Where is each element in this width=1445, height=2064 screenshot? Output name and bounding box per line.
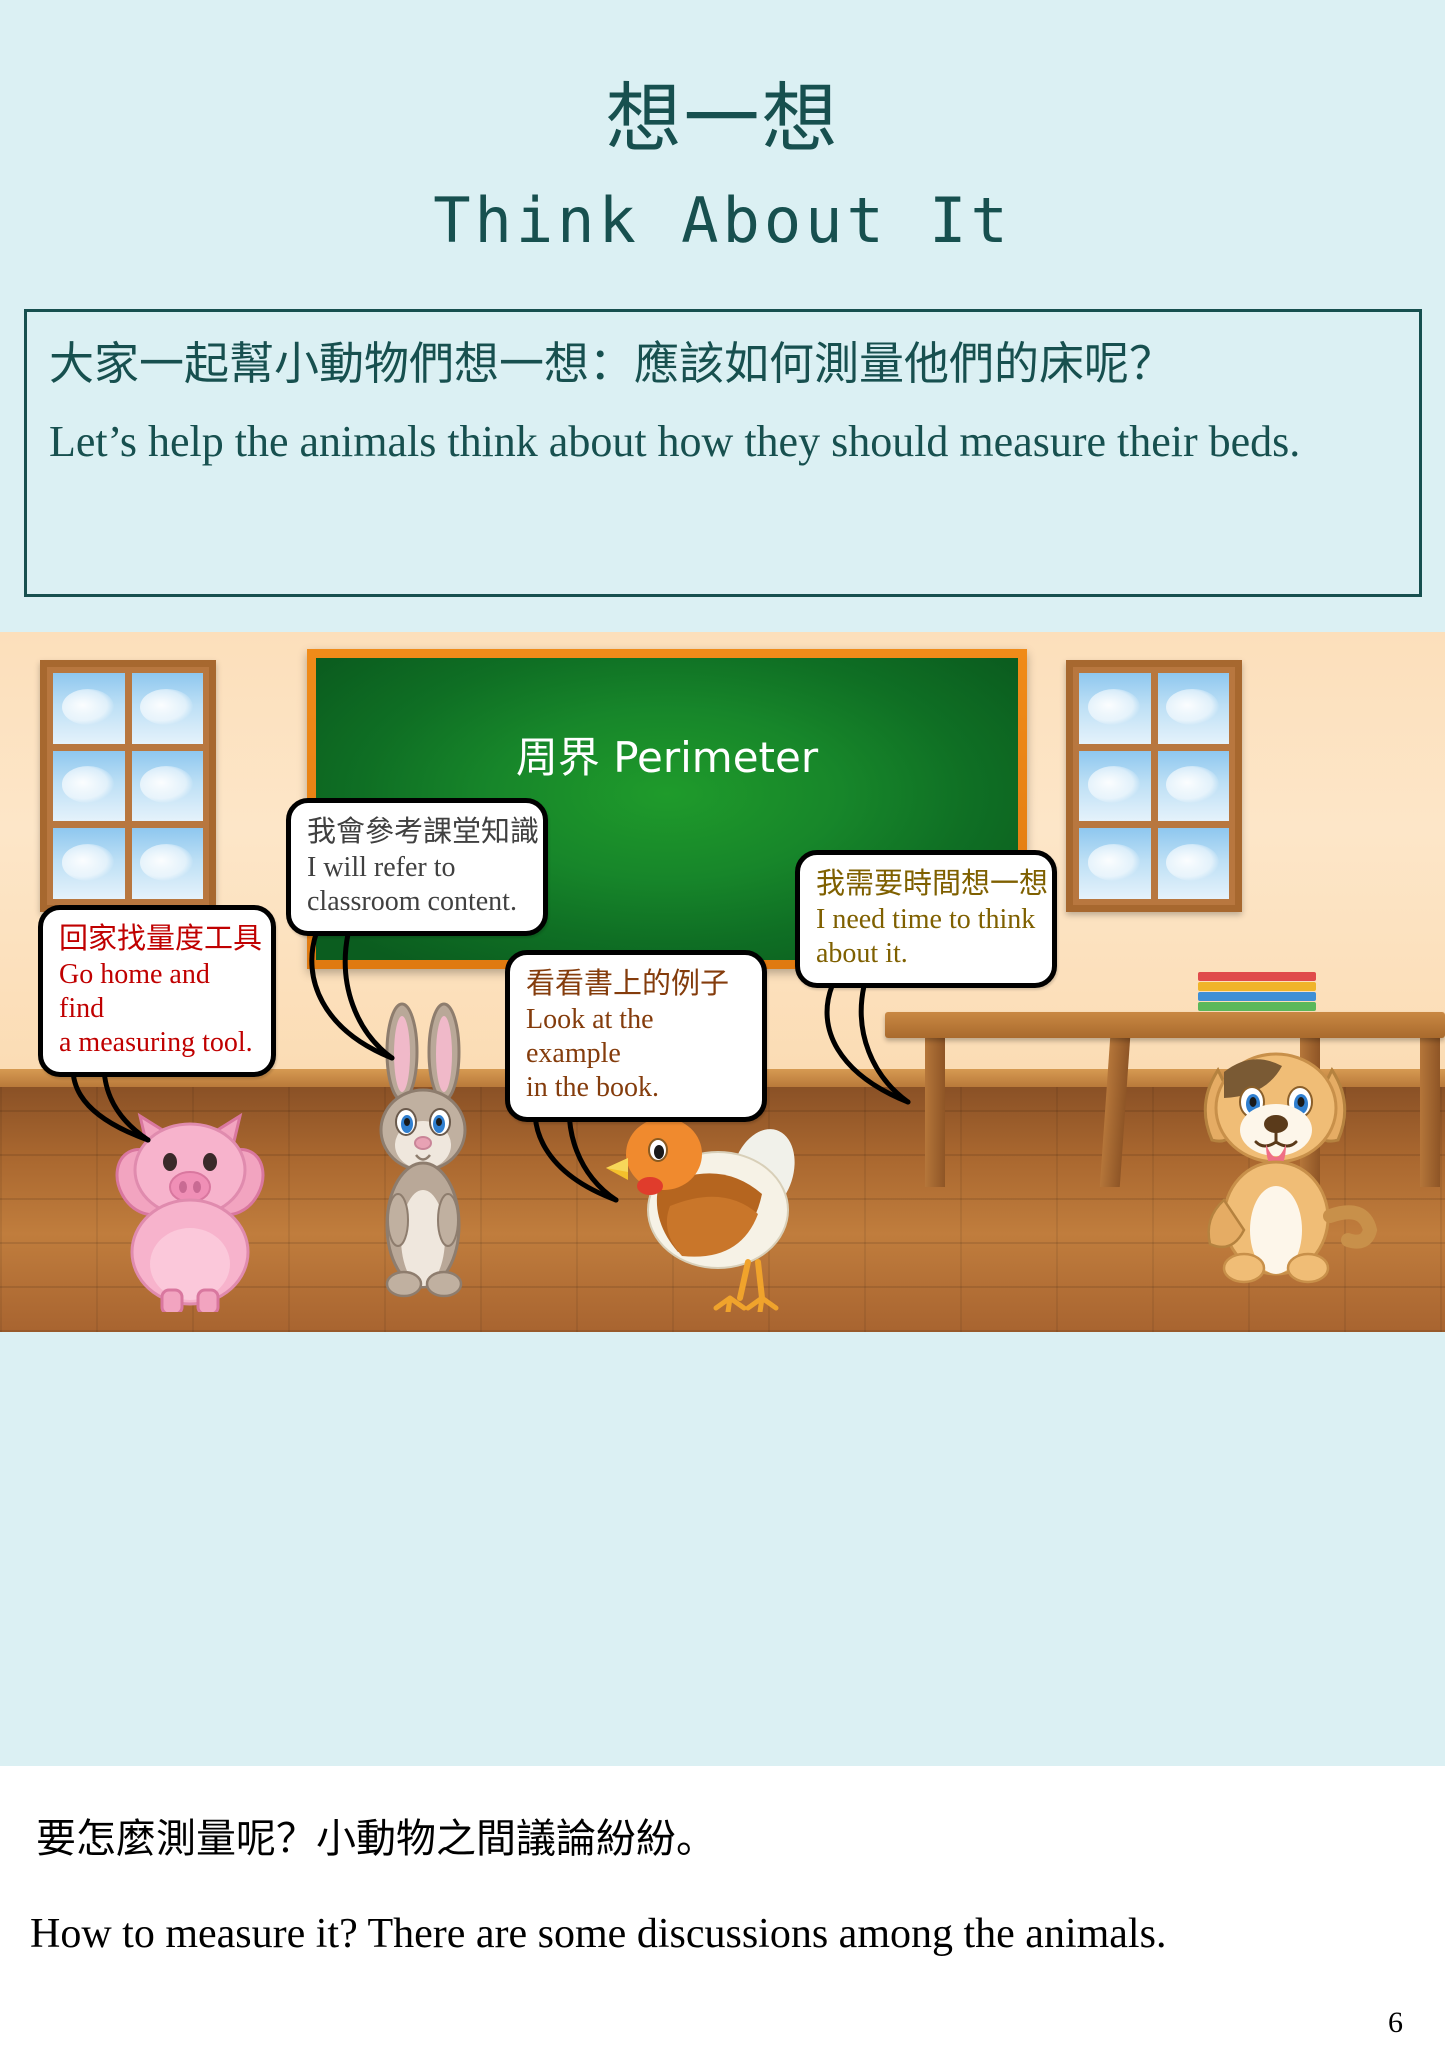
summary-text-chinese: 要怎麼測量呢？小動物之間議論紛紛。 [36, 1814, 716, 1864]
question-text-english: Let’s help the animals think about how t… [49, 414, 1397, 470]
window-pane [132, 828, 204, 899]
dog-illustration [1180, 1030, 1380, 1290]
speech-bubble-chicken: 看看書上的例子 Look at the example in the book. [505, 950, 767, 1122]
window-pane [132, 673, 204, 744]
question-text-chinese: 大家一起幫小動物們想一想：應該如何測量他們的床呢？ [49, 336, 1397, 392]
bubble-text-english-line1: Look at the example [526, 1003, 746, 1071]
window-pane [132, 751, 204, 822]
window-pane [1158, 751, 1230, 822]
speech-bubble-pig: 回家找量度工具 Go home and find a measuring too… [38, 905, 276, 1077]
window-icon [1066, 660, 1242, 912]
book [1198, 982, 1316, 991]
bubble-text-chinese: 回家找量度工具 [59, 920, 255, 958]
book [1198, 992, 1316, 1001]
window-pane [1158, 828, 1230, 899]
book-stack-icon [1198, 972, 1318, 1016]
bubble-text-english-line2: classroom content. [307, 885, 527, 919]
window-pane [53, 828, 125, 899]
window-pane [1158, 673, 1230, 744]
speech-bubble-dog: 我需要時間想一想 I need time to think about it. [795, 850, 1057, 988]
window-pane [1079, 828, 1151, 899]
slide-page: 想一想 Think About It 大家一起幫小動物們想一想：應該如何測量他們… [0, 0, 1445, 2064]
classroom-illustration: 周界 Perimeter [0, 632, 1445, 1332]
window-icon [40, 660, 216, 912]
window-pane [1079, 673, 1151, 744]
table-leg [1420, 1037, 1440, 1187]
bubble-text-english-line2: in the book. [526, 1071, 746, 1105]
question-box: 大家一起幫小動物們想一想：應該如何測量他們的床呢？ Let’s help the… [24, 309, 1422, 597]
page-title-english: Think About It [0, 182, 1445, 260]
window-pane [53, 751, 125, 822]
speech-tail-rabbit [300, 932, 460, 1072]
summary-text-english: How to measure it? There are some discus… [30, 1908, 1166, 1960]
summary-area: 要怎麼測量呢？小動物之間議論紛紛。 How to measure it? The… [0, 1766, 1445, 2064]
window-pane [1079, 751, 1151, 822]
bubble-text-chinese: 我會參考課堂知識 [307, 813, 527, 851]
bubble-text-chinese: 我需要時間想一想 [816, 865, 1036, 903]
speech-tail-dog [810, 984, 970, 1114]
bubble-text-english-line2: a measuring tool. [59, 1026, 255, 1060]
bubble-text-english-line1: I will refer to [307, 851, 527, 885]
book [1198, 1002, 1316, 1011]
window-pane [53, 673, 125, 744]
blackboard-text: 周界 Perimeter [316, 734, 1018, 782]
bubble-text-english-line1: I need time to think [816, 903, 1036, 937]
book [1198, 972, 1316, 981]
page-title-chinese: 想一想 [0, 78, 1445, 162]
page-number: 6 [1388, 2006, 1403, 2040]
bubble-text-chinese: 看看書上的例子 [526, 965, 746, 1003]
speech-bubble-rabbit: 我會參考課堂知識 I will refer to classroom conte… [286, 798, 548, 936]
bubble-text-english-line2: about it. [816, 937, 1036, 971]
bubble-text-english-line1: Go home and find [59, 958, 255, 1026]
